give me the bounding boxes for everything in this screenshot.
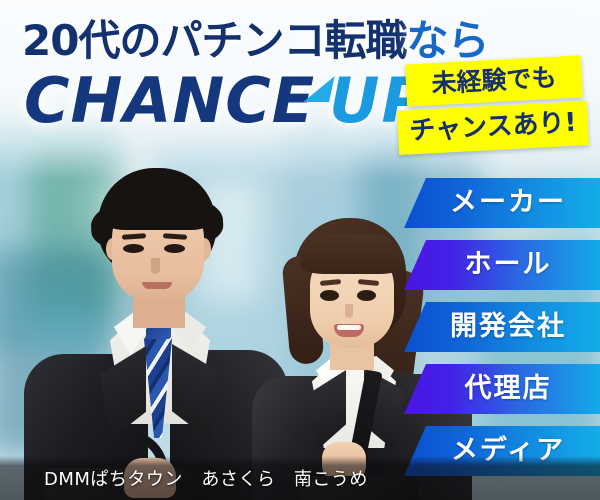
eye-left	[320, 290, 339, 301]
teeth	[337, 325, 361, 330]
headline-line-2: CHANCEUP	[24, 70, 429, 132]
recruitment-banner[interactable]: 20代のパチンコ転職なら CHANCEUP 未経験でも チャンスあり! メーカー…	[0, 0, 600, 500]
male-model-photo	[18, 168, 288, 500]
category-label: ホール	[465, 251, 552, 278]
category-button-maker[interactable]: メーカー	[404, 178, 600, 228]
promo-badge-line-1: 未経験でも	[405, 55, 583, 106]
category-button-list: メーカー ホール 開発会社 代理店 メディア	[404, 178, 600, 488]
nose	[151, 258, 160, 274]
category-label: 代理店	[465, 375, 552, 402]
nose	[345, 304, 353, 318]
headline-line-1: 20代のパチンコ転職なら	[22, 20, 488, 62]
headline-chance-text: CHANCE	[24, 64, 315, 137]
hair-fringe	[300, 234, 404, 274]
category-label: メーカー	[450, 189, 566, 216]
category-button-agency[interactable]: 代理店	[404, 364, 600, 414]
eye-right	[357, 290, 376, 301]
credit-bar: DMMぱちタウン あさくら 南こうめ	[0, 456, 600, 500]
eye-right	[164, 244, 185, 253]
category-label: 開発会社	[450, 313, 566, 340]
category-button-developer[interactable]: 開発会社	[404, 302, 600, 352]
hair-fringe	[104, 186, 212, 230]
credit-text: DMMぱちタウン あさくら 南こうめ	[44, 465, 368, 491]
promo-badge-line-2: チャンスあり!	[397, 101, 589, 155]
mouth	[142, 282, 172, 289]
eye-left	[123, 244, 144, 253]
promo-badge: 未経験でも チャンスあり!	[398, 58, 590, 156]
headline-line-1-main: 20代のパチンコ転職	[22, 16, 406, 65]
category-button-hall[interactable]: ホール	[404, 240, 600, 290]
